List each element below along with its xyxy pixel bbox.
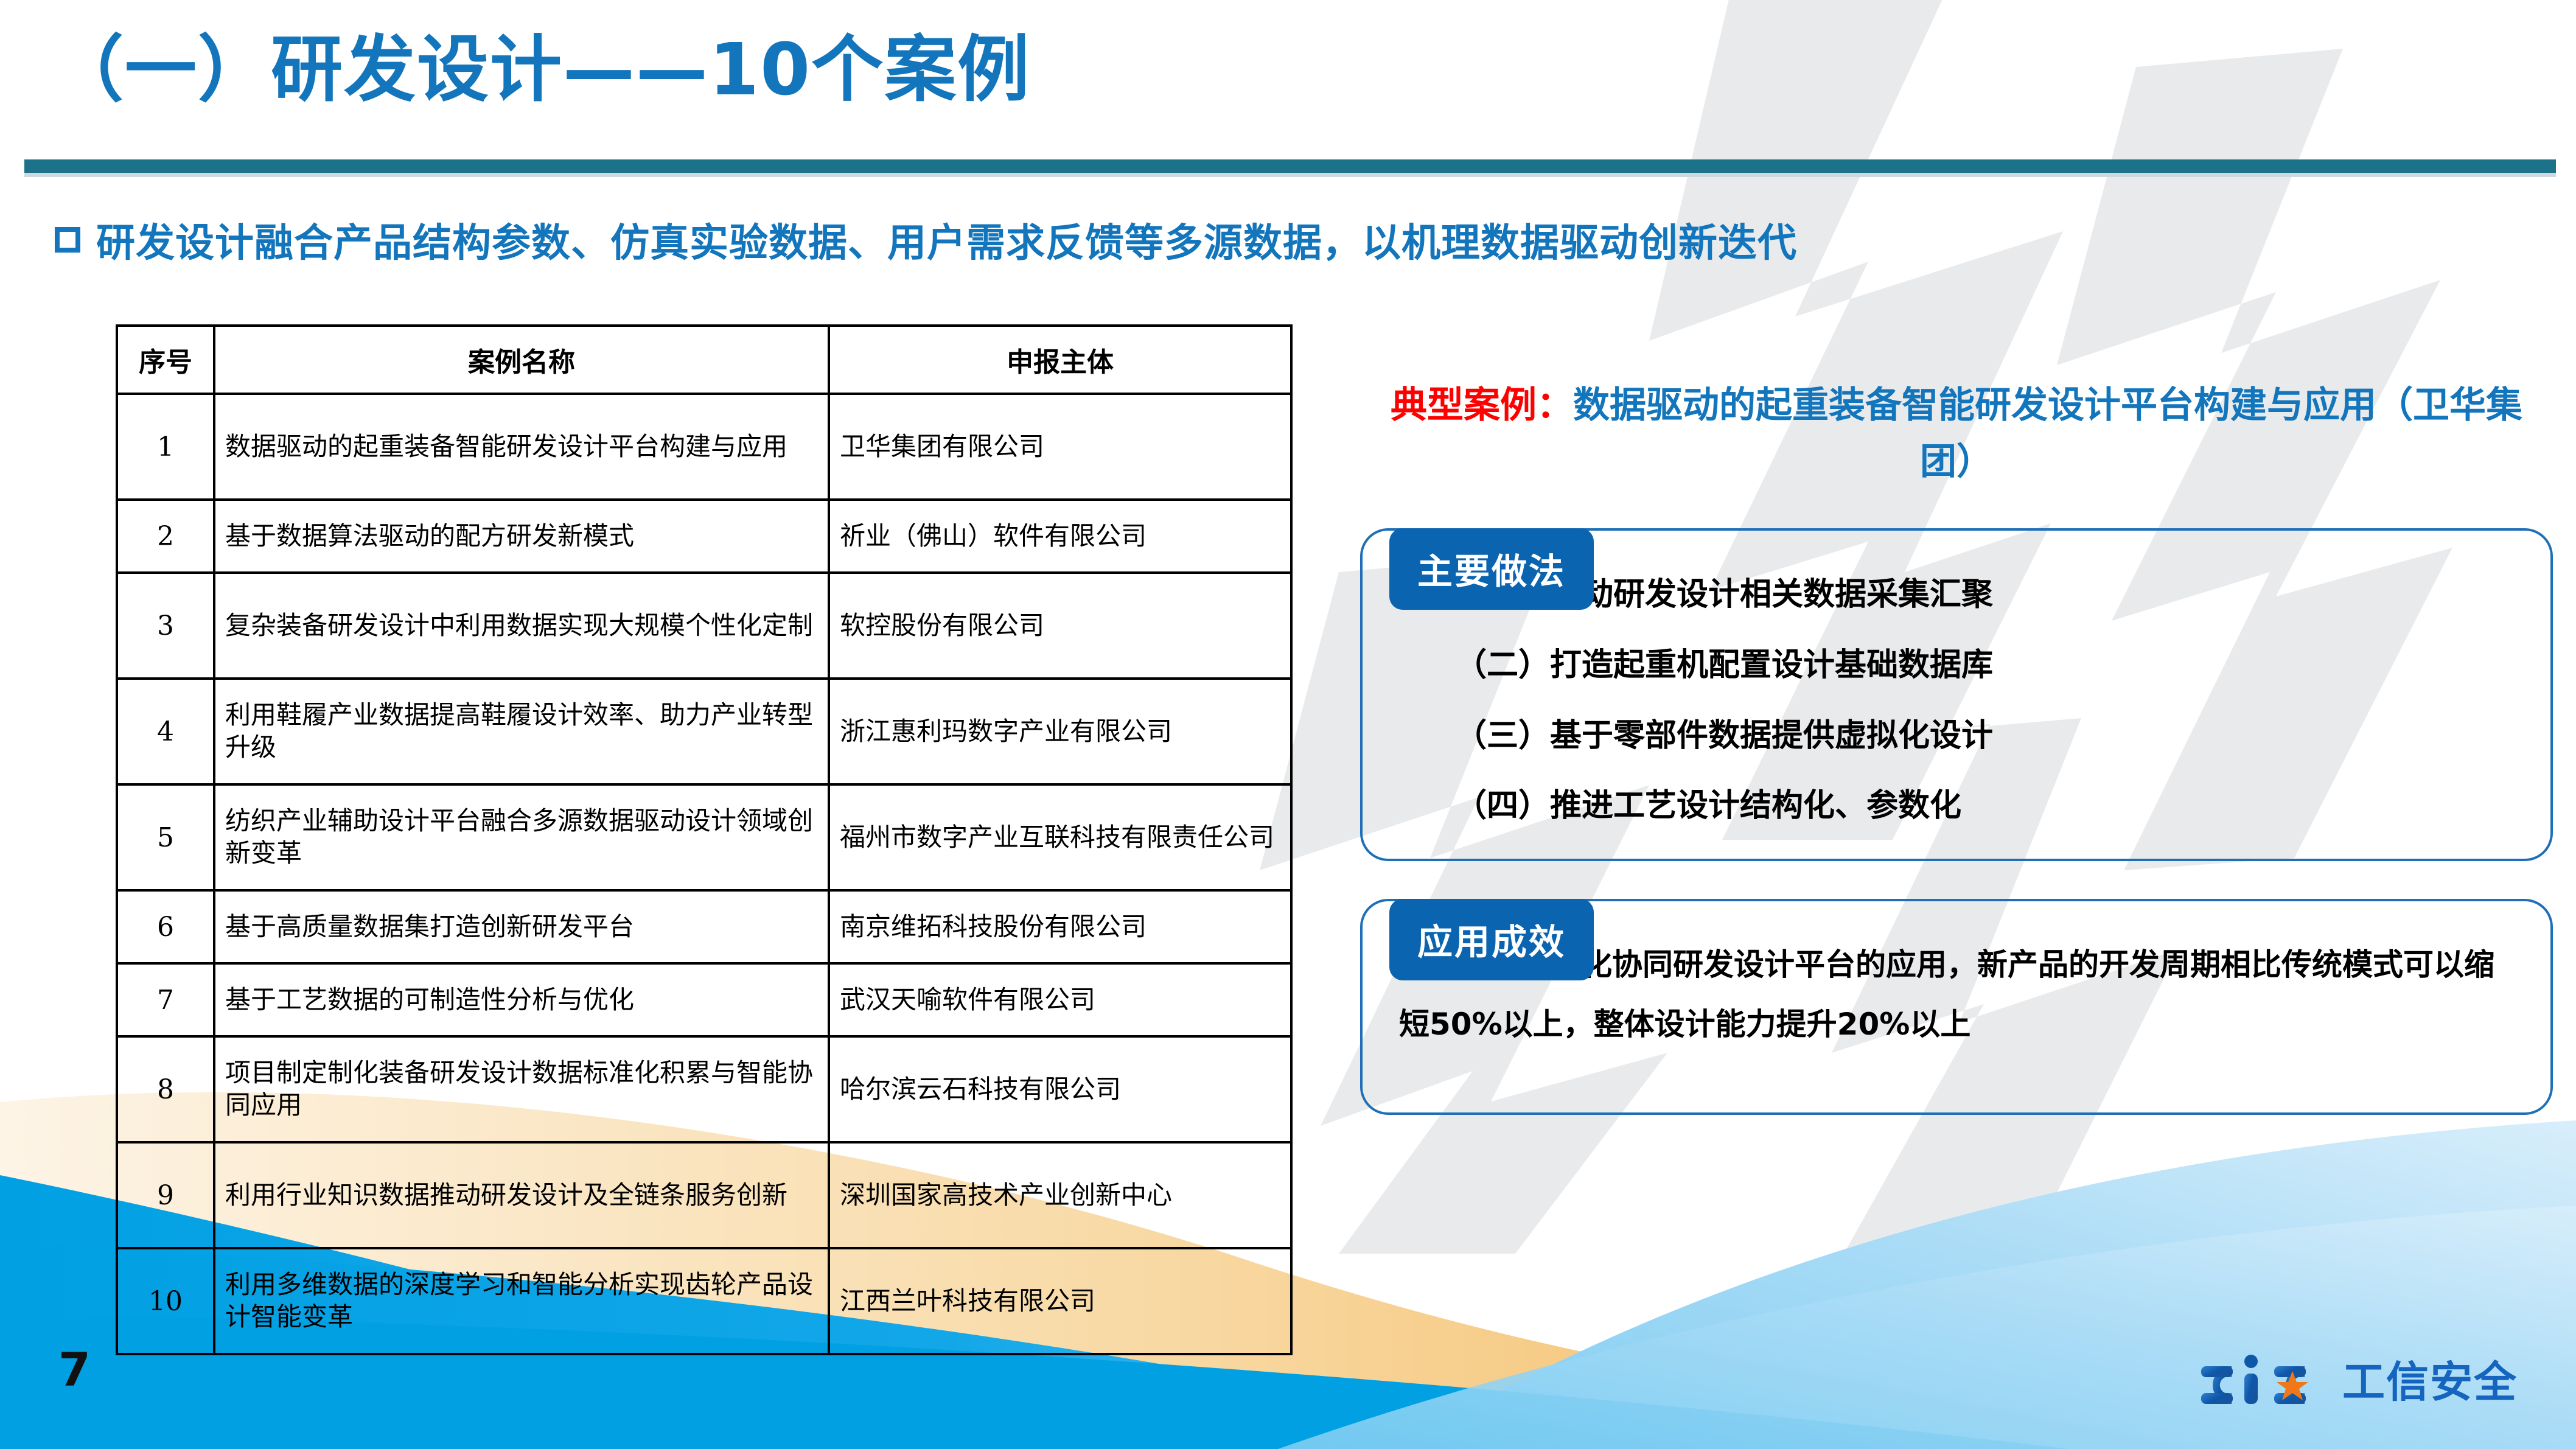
typical-case-body: 数据驱动的起重装备智能研发设计平台构建与应用（卫华集团）: [1573, 384, 2522, 483]
list-item: （二）打造起重机配置设计基础数据库: [1399, 648, 2514, 684]
table-row: 6 基于高质量数据集打造创新研发平台 南京维拓科技股份有限公司: [117, 890, 1291, 963]
cic-logo-icon: [2195, 1350, 2336, 1414]
cell-name: 项目制定制化装备研发设计数据标准化积累与智能协同应用: [214, 1036, 829, 1142]
column-header-name: 案例名称: [214, 326, 829, 394]
table-row: 3 复杂装备研发设计中利用数据实现大规模个性化定制 软控股份有限公司: [117, 573, 1291, 679]
table-row: 7 基于工艺数据的可制造性分析与优化 武汉天喻软件有限公司: [117, 963, 1291, 1036]
cell-name: 基于数据算法驱动的配方研发新模式: [214, 500, 829, 573]
cell-no: 8: [117, 1036, 214, 1142]
table-row: 4 利用鞋履产业数据提高鞋履设计效率、助力产业转型升级 浙江惠利玛数字产业有限公…: [117, 679, 1291, 784]
column-header-entity: 申报主体: [829, 326, 1291, 394]
cell-entity: 祈业（佛山）软件有限公司: [829, 500, 1291, 573]
cell-name: 复杂装备研发设计中利用数据实现大规模个性化定制: [214, 573, 829, 679]
list-item: （三）基于零部件数据提供虚拟化设计: [1399, 718, 2514, 755]
slide-canvas: （一）研发设计——10个案例 研发设计融合产品结构参数、仿真实验数据、用户需求反…: [0, 0, 2576, 1449]
table-row: 8 项目制定制化装备研发设计数据标准化积累与智能协同应用 哈尔滨云石科技有限公司: [117, 1036, 1291, 1142]
cell-entity: 哈尔滨云石科技有限公司: [829, 1036, 1291, 1142]
cell-no: 1: [117, 394, 214, 500]
table-row: 10 利用多维数据的深度学习和智能分析实现齿轮产品设计智能变革 江西兰叶科技有限…: [117, 1248, 1291, 1354]
page-number: 7: [58, 1343, 91, 1397]
cell-entity: 软控股份有限公司: [829, 573, 1291, 679]
cell-no: 3: [117, 573, 214, 679]
typical-case-label: 典型案例：: [1391, 384, 1573, 427]
title-divider-shadow: [24, 173, 2556, 177]
cell-name: 基于工艺数据的可制造性分析与优化: [214, 963, 829, 1036]
cell-entity: 浙江惠利玛数字产业有限公司: [829, 679, 1291, 784]
section-application-effect: 应用成效 通过数字化协同研发设计平台的应用，新产品的开发周期相比传统模式可以缩短…: [1360, 899, 2553, 1115]
section-tab-application-effect: 应用成效: [1389, 899, 1594, 980]
table-row: 9 利用行业知识数据推动研发设计及全链条服务创新 深圳国家高技术产业创新中心: [117, 1142, 1291, 1248]
table-row: 1 数据驱动的起重装备智能研发设计平台构建与应用 卫华集团有限公司: [117, 394, 1291, 500]
column-header-no: 序号: [117, 326, 214, 394]
subtitle-text: 研发设计融合产品结构参数、仿真实验数据、用户需求反馈等多源数据，以机理数据驱动创…: [96, 212, 1797, 268]
cell-entity: 南京维拓科技股份有限公司: [829, 890, 1291, 963]
logo-chinese-text: 工信安全: [2342, 1361, 2518, 1403]
cell-no: 7: [117, 963, 214, 1036]
cell-entity: 武汉天喻软件有限公司: [829, 963, 1291, 1036]
cell-name: 利用鞋履产业数据提高鞋履设计效率、助力产业转型升级: [214, 679, 829, 784]
brand-logo: 工信安全: [2195, 1350, 2518, 1414]
square-bullet-icon: [55, 227, 80, 253]
cell-no: 9: [117, 1142, 214, 1248]
list-item: （四）推进工艺设计结构化、参数化: [1399, 788, 2514, 825]
cell-name: 利用行业知识数据推动研发设计及全链条服务创新: [214, 1142, 829, 1248]
practice-list: （一）推动研发设计相关数据采集汇聚 （二）打造起重机配置设计基础数据库 （三）基…: [1399, 577, 2514, 825]
cell-no: 6: [117, 890, 214, 963]
cell-entity: 卫华集团有限公司: [829, 394, 1291, 500]
typical-case-headline: 典型案例：数据驱动的起重装备智能研发设计平台构建与应用（卫华集团）: [1360, 377, 2553, 491]
section-main-practices: 主要做法 （一）推动研发设计相关数据采集汇聚 （二）打造起重机配置设计基础数据库…: [1360, 528, 2553, 861]
table-row: 5 纺织产业辅助设计平台融合多源数据驱动设计领域创新变革 福州市数字产业互联科技…: [117, 784, 1291, 890]
case-table: 序号 案例名称 申报主体 1 数据驱动的起重装备智能研发设计平台构建与应用 卫华…: [116, 324, 1293, 1355]
table-header-row: 序号 案例名称 申报主体: [117, 326, 1291, 394]
cell-no: 5: [117, 784, 214, 890]
cell-no: 2: [117, 500, 214, 573]
section-tab-main-practices: 主要做法: [1389, 528, 1594, 610]
cell-name: 利用多维数据的深度学习和智能分析实现齿轮产品设计智能变革: [214, 1248, 829, 1354]
cell-no: 4: [117, 679, 214, 784]
page-title: （一）研发设计——10个案例: [52, 33, 1030, 105]
cell-no: 10: [117, 1248, 214, 1354]
table-row: 2 基于数据算法驱动的配方研发新模式 祈业（佛山）软件有限公司: [117, 500, 1291, 573]
right-panel: 典型案例：数据驱动的起重装备智能研发设计平台构建与应用（卫华集团） 主要做法 （…: [1360, 377, 2553, 1115]
cell-entity: 深圳国家高技术产业创新中心: [829, 1142, 1291, 1248]
title-divider: [24, 159, 2556, 173]
cell-entity: 江西兰叶科技有限公司: [829, 1248, 1291, 1354]
subtitle-row: 研发设计融合产品结构参数、仿真实验数据、用户需求反馈等多源数据，以机理数据驱动创…: [55, 212, 1797, 268]
cell-name: 数据驱动的起重装备智能研发设计平台构建与应用: [214, 394, 829, 500]
cell-name: 纺织产业辅助设计平台融合多源数据驱动设计领域创新变革: [214, 784, 829, 890]
cell-entity: 福州市数字产业互联科技有限责任公司: [829, 784, 1291, 890]
cell-name: 基于高质量数据集打造创新研发平台: [214, 890, 829, 963]
